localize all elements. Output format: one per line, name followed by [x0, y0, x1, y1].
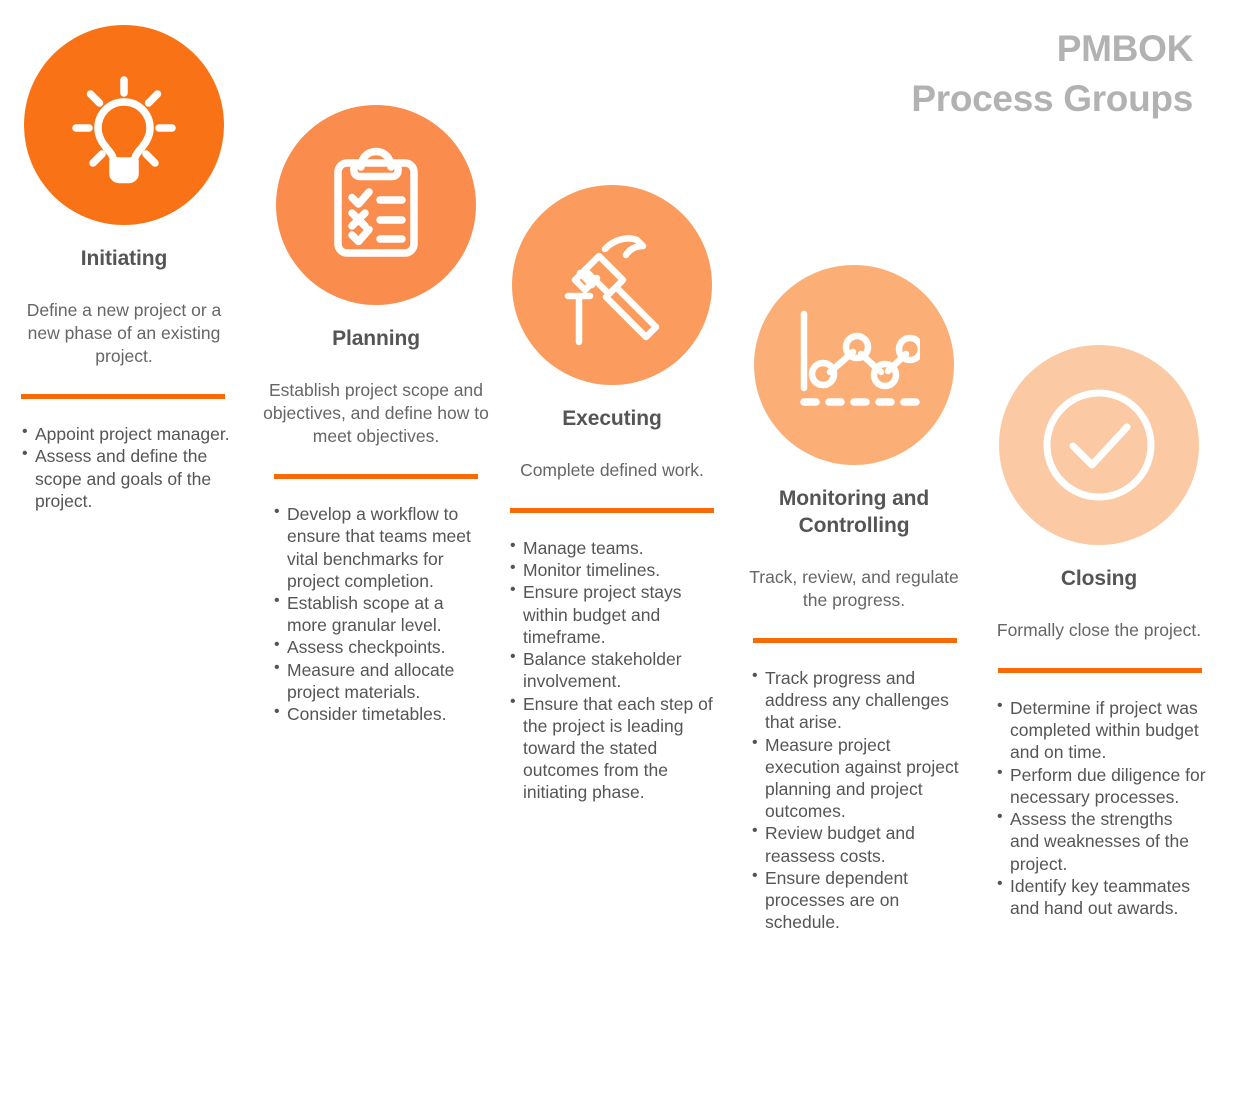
- stage-divider-closing: [998, 668, 1202, 673]
- list-item: Assess the strengths and weaknesses of t…: [996, 808, 1206, 875]
- stage-description-monitoring: Track, review, and regulate the progress…: [735, 566, 973, 612]
- page-title-line-2: Process Groups: [673, 74, 1193, 124]
- list-item: Measure and allocate project materials.: [273, 659, 483, 703]
- list-item: Identify key teammates and hand out awar…: [996, 875, 1206, 919]
- list-item: Establish scope at a more granular level…: [273, 592, 483, 636]
- list-item: Ensure that each step of the project is …: [509, 693, 719, 804]
- pmbok-process-groups-infographic: PMBOK Process Groups: [0, 0, 1238, 1106]
- list-item: Balance stakeholder involvement.: [509, 648, 719, 692]
- stage-column-monitoring-and-controlling: Monitoring and Controlling Track, review…: [735, 265, 973, 934]
- clipboard-checklist-icon: [316, 145, 436, 265]
- stage-title-closing: Closing: [980, 566, 1218, 593]
- stage-divider-monitoring: [753, 638, 957, 643]
- stage-icon-circle-planning: [276, 105, 476, 305]
- lightbulb-icon: [61, 62, 187, 188]
- stage-description-initiating: Define a new project or a new phase of a…: [5, 299, 243, 368]
- list-item: Monitor timelines.: [509, 559, 719, 581]
- stage-description-closing: Formally close the project.: [980, 619, 1218, 642]
- stage-description-planning: Establish project scope and objectives, …: [257, 379, 495, 448]
- list-item: Appoint project manager.: [21, 423, 231, 445]
- list-item: Ensure dependent processes are on schedu…: [751, 867, 961, 934]
- stage-bullet-list-initiating: Appoint project manager. Assess and defi…: [5, 423, 243, 512]
- stage-title-executing: Executing: [493, 406, 731, 433]
- stage-divider-executing: [510, 508, 714, 513]
- list-item: Consider timetables.: [273, 703, 483, 725]
- list-item: Perform due diligence for necessary proc…: [996, 764, 1206, 808]
- stage-bullet-list-planning: Develop a workflow to ensure that teams …: [257, 503, 495, 725]
- hammer-and-nail-icon: [547, 220, 677, 350]
- stage-divider-initiating: [21, 394, 225, 399]
- stage-title-planning: Planning: [257, 326, 495, 353]
- stage-bullet-list-executing: Manage teams. Monitor timelines. Ensure …: [493, 537, 731, 804]
- stage-title-initiating: Initiating: [5, 246, 243, 273]
- list-item: Ensure project stays within budget and t…: [509, 581, 719, 648]
- stage-column-planning: Planning Establish project scope and obj…: [257, 105, 495, 725]
- stage-description-executing: Complete defined work.: [493, 459, 731, 482]
- stage-title-monitoring: Monitoring and Controlling: [735, 486, 973, 540]
- check-circle-icon: [1037, 383, 1161, 507]
- line-chart-icon: [788, 302, 920, 428]
- list-item: Assess checkpoints.: [273, 636, 483, 658]
- list-item: Review budget and reassess costs.: [751, 822, 961, 866]
- stage-column-initiating: Initiating Define a new project or a new…: [5, 25, 243, 512]
- stage-icon-circle-monitoring: [754, 265, 954, 465]
- stage-bullet-list-closing: Determine if project was completed withi…: [980, 697, 1218, 919]
- list-item: Track progress and address any challenge…: [751, 667, 961, 734]
- list-item: Manage teams.: [509, 537, 719, 559]
- stage-column-closing: Closing Formally close the project. Dete…: [980, 345, 1218, 919]
- stage-icon-circle-closing: [999, 345, 1199, 545]
- stage-icon-circle-executing: [512, 185, 712, 385]
- page-title: PMBOK Process Groups: [673, 24, 1193, 123]
- list-item: Determine if project was completed withi…: [996, 697, 1206, 764]
- list-item: Assess and define the scope and goals of…: [21, 445, 231, 512]
- list-item: Develop a workflow to ensure that teams …: [273, 503, 483, 592]
- stage-column-executing: Executing Complete defined work. Manage …: [493, 185, 731, 804]
- stage-icon-circle-initiating: [24, 25, 224, 225]
- list-item: Measure project execution against projec…: [751, 734, 961, 823]
- page-title-line-1: PMBOK: [673, 24, 1193, 74]
- stage-divider-planning: [274, 474, 478, 479]
- stage-bullet-list-monitoring: Track progress and address any challenge…: [735, 667, 973, 934]
